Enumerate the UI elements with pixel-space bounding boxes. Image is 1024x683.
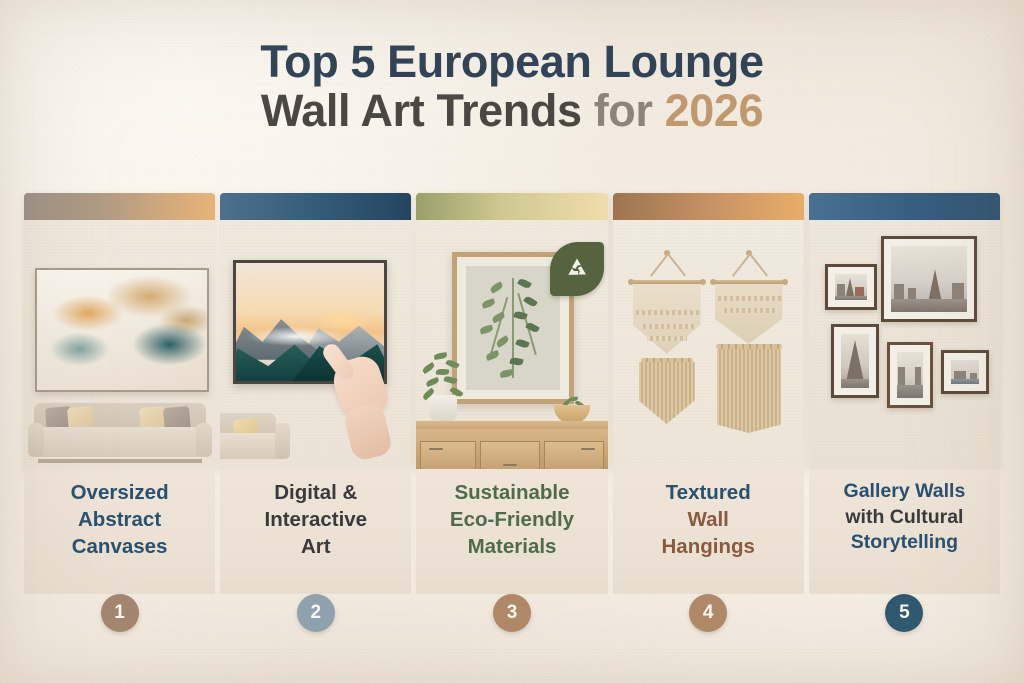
trend-label-2-line-2: Interactive: [265, 506, 368, 533]
potted-plant: [420, 347, 466, 421]
trend-card-5[interactable]: [809, 193, 1000, 469]
card-2-accent-bar: [220, 193, 411, 220]
rank-badge-1[interactable]: 1: [101, 594, 139, 632]
trend-label-2-line-1: Digital &: [265, 479, 368, 506]
trend-label-1-line-2: Abstract: [71, 506, 169, 533]
card-3-scene-sustainable-materials: [416, 220, 607, 469]
trend-label-5-line-1: Gallery Walls: [844, 479, 966, 505]
trend-label-box-1: Oversized Abstract Canvases: [24, 469, 215, 594]
infographic-title: Top 5 European Lounge Wall Art Trends fo…: [0, 38, 1024, 135]
trend-card-3[interactable]: [416, 193, 607, 469]
rank-badge-cell-1: 1: [24, 594, 215, 638]
rank-badge-2[interactable]: 2: [297, 594, 335, 632]
trend-label-3-line-3: Materials: [450, 533, 574, 560]
trend-card-2[interactable]: [220, 193, 411, 469]
rank-badge-cell-3: 3: [416, 594, 607, 638]
title-year: 2026: [665, 85, 764, 136]
rank-badge-5[interactable]: 5: [885, 594, 923, 632]
trend-label-box-3: Sustainable Eco-Friendly Materials: [416, 469, 607, 594]
trend-label-4-line-2: Wall: [662, 506, 755, 533]
trend-label-3: Sustainable Eco-Friendly Materials: [444, 479, 580, 560]
rank-badge-cell-5: 5: [809, 594, 1000, 638]
rank-badge-cell-4: 4: [613, 594, 804, 638]
card-5-accent-bar: [809, 193, 1000, 220]
card-4-scene-textured-wall-hangings: [613, 220, 804, 469]
title-wall-art-trends: Wall Art Trends: [261, 85, 582, 136]
trend-label-5-line-2: with Cultural: [844, 505, 966, 531]
trend-label-2-line-3: Art: [265, 533, 368, 560]
title-line-two: Wall Art Trends for 2026: [0, 87, 1024, 136]
trend-label-4-line-3: Hangings: [662, 533, 755, 560]
rank-badge-3[interactable]: 3: [493, 594, 531, 632]
rank-badges-row: 1 2 3 4 5: [24, 594, 1000, 638]
card-1-scene-oversized-abstract-canvas: [24, 220, 215, 469]
leaf-illustration: [466, 266, 560, 390]
trend-label-box-5: Gallery Walls with Cultural Storytelling: [809, 469, 1000, 594]
beige-sofa: [220, 407, 298, 467]
recycle-leaf-icon: [550, 242, 604, 296]
trend-label-4: Textured Wall Hangings: [656, 479, 761, 560]
trend-label-3-line-2: Eco-Friendly: [450, 506, 574, 533]
card-1-accent-bar: [24, 193, 215, 220]
trend-label-1-line-3: Canvases: [71, 533, 169, 560]
card-2-scene-digital-interactive-art: [220, 220, 411, 469]
gallery-frame-small-top-left: [825, 264, 877, 310]
beige-sofa: [28, 401, 212, 463]
trend-label-box-4: Textured Wall Hangings: [613, 469, 804, 594]
card-4-accent-bar: [613, 193, 804, 220]
trend-label-5: Gallery Walls with Cultural Storytelling: [838, 479, 972, 556]
trend-labels-row: Oversized Abstract Canvases Digital & In…: [24, 469, 1000, 594]
title-for: for: [594, 85, 653, 136]
title-line-one: Top 5 European Lounge: [0, 38, 1024, 87]
card-3-accent-bar: [416, 193, 607, 220]
trend-cards-row: [24, 193, 1000, 469]
trend-label-5-line-3: Storytelling: [844, 530, 966, 556]
rank-badge-cell-2: 2: [220, 594, 411, 638]
rank-badge-4[interactable]: 4: [689, 594, 727, 632]
gallery-frame-small-bottom-right: [941, 350, 989, 394]
trend-label-2: Digital & Interactive Art: [259, 479, 374, 560]
gallery-frame-large-eiffel: [881, 236, 977, 322]
card-5-scene-gallery-wall: [809, 220, 1000, 469]
trend-label-1: Oversized Abstract Canvases: [65, 479, 175, 560]
trend-label-3-line-1: Sustainable: [450, 479, 574, 506]
pointing-hand-icon: [318, 328, 396, 458]
abstract-canvas-artwork: [35, 268, 209, 392]
gallery-frame-street-portrait: [887, 342, 933, 408]
trend-card-1[interactable]: [24, 193, 215, 469]
gallery-frame-eiffel-portrait: [831, 324, 879, 398]
trend-label-box-2: Digital & Interactive Art: [220, 469, 411, 594]
wooden-sideboard: [416, 421, 607, 469]
trend-label-4-line-1: Textured: [662, 479, 755, 506]
trend-card-4[interactable]: [613, 193, 804, 469]
trend-label-1-line-1: Oversized: [71, 479, 169, 506]
